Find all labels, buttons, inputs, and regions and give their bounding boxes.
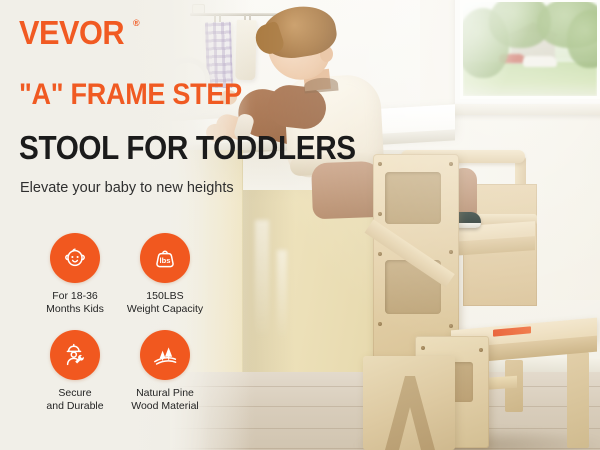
stool-front-lower-panel (363, 356, 455, 450)
feature-secure-durable: Secure and Durable (30, 330, 120, 413)
tagline: Elevate your baby to new heights (20, 180, 234, 196)
feature-label: Natural Pine Wood Material (131, 387, 199, 413)
screw-icon (449, 162, 453, 166)
feature-badge-list: For 18-36 Months Kids lbs 150LBS Weight … (30, 233, 210, 414)
screw-icon (449, 250, 453, 254)
screw-icon (378, 162, 382, 166)
badge-circle (50, 233, 100, 283)
advertisement-banner: VEVOR ® "A" FRAME STEP STOOL FOR TODDLER… (0, 0, 600, 450)
badge-circle (50, 330, 100, 380)
vevor-logo: VEVOR ® (19, 16, 140, 49)
feature-weight-capacity: lbs 150LBS Weight Capacity (120, 233, 210, 316)
pine-trees-icon (150, 340, 180, 370)
badge-circle: lbs (140, 233, 190, 283)
weight-lbs-icon: lbs (150, 243, 180, 273)
screw-icon (479, 348, 483, 352)
product-lifestyle-photo (170, 0, 600, 450)
window-sill (450, 104, 600, 115)
logo-wordmark: VEVOR (19, 16, 124, 49)
screw-icon (378, 212, 382, 216)
worker-helmet-wrench-icon (60, 340, 90, 370)
headline-line-1: "A" FRAME STEP (19, 80, 242, 110)
window-white-car (523, 56, 557, 67)
feature-label: 150LBS Weight Capacity (127, 290, 203, 316)
screw-icon (449, 324, 453, 328)
kitchen-window (455, 0, 600, 104)
feature-age-range: For 18-36 Months Kids (30, 233, 120, 316)
feature-label: Secure and Durable (46, 387, 103, 413)
screw-icon (421, 346, 425, 350)
baby-face-icon (60, 243, 90, 273)
weight-icon-text: lbs (160, 256, 171, 265)
step-stool-product (355, 128, 600, 450)
headline-line-2: STOOL FOR TODDLERS (19, 131, 356, 164)
registered-trademark-icon: ® (133, 18, 140, 28)
panel-a-cutout (385, 376, 435, 450)
badge-circle (140, 330, 190, 380)
screw-icon (378, 252, 382, 256)
stool-lower-leg (567, 352, 589, 448)
screw-icon (378, 322, 382, 326)
stool-a-frame-side-panel (373, 154, 459, 362)
window-glass (463, 2, 597, 96)
panel-cutout (385, 172, 441, 224)
feature-material: Natural Pine Wood Material (120, 330, 210, 413)
feature-label: For 18-36 Months Kids (46, 290, 104, 316)
